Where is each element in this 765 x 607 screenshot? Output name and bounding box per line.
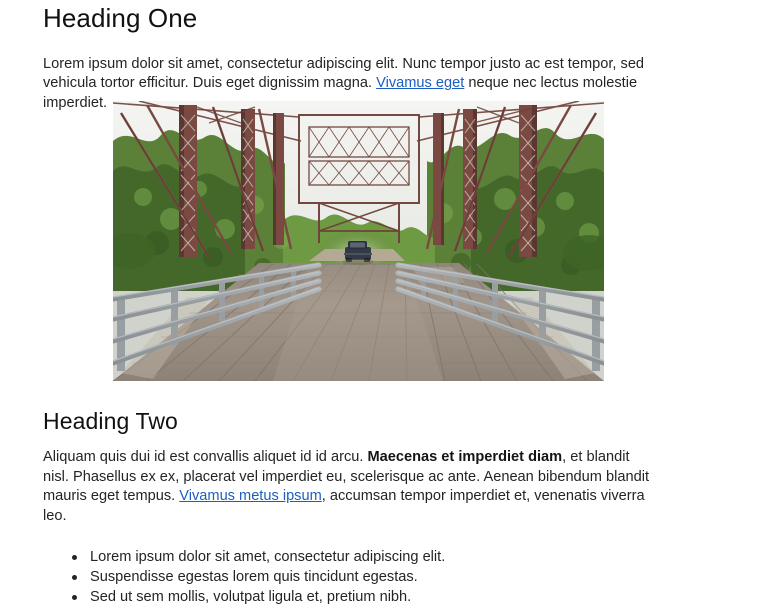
bold-emphasis-text: Maecenas et imperdiet diam — [367, 449, 562, 465]
list-item-label: Suspendisse egestas lorem quis tincidunt… — [90, 569, 418, 585]
bullet-icon — [72, 575, 77, 580]
list-item: Sed ut sem mollis, volutpat ligula et, p… — [43, 587, 658, 607]
list-item: Lorem ipsum dolor sit amet, consectetur … — [43, 547, 658, 567]
section-two: Heading Two Aliquam quis dui id est conv… — [43, 408, 658, 607]
link-vivamus-metus-ipsum[interactable]: Vivamus metus ipsum — [179, 488, 321, 504]
section-one: Heading One Lorem ipsum dolor sit amet, … — [43, 0, 653, 113]
page-title: Heading One — [43, 0, 653, 34]
list-item-label: Sed ut sem mollis, volutpat ligula et, p… — [90, 589, 411, 605]
link-vivamus-eget[interactable]: Vivamus eget — [376, 75, 464, 91]
document-page: Heading One Lorem ipsum dolor sit amet, … — [0, 0, 765, 582]
paragraph-two-part-1: Aliquam quis dui id est convallis alique… — [43, 449, 367, 465]
bullet-icon — [72, 595, 77, 600]
feature-list: Lorem ipsum dolor sit amet, consectetur … — [43, 526, 658, 607]
section-two-title: Heading Two — [43, 408, 658, 434]
section-two-paragraph: Aliquam quis dui id est convallis alique… — [43, 434, 651, 526]
list-item: Suspendisse egestas lorem quis tincidunt… — [43, 567, 658, 587]
bullet-icon — [72, 555, 77, 560]
bridge-photo-graphic — [113, 101, 604, 381]
list-item-label: Lorem ipsum dolor sit amet, consectetur … — [90, 549, 445, 565]
bridge-photo — [113, 101, 604, 381]
